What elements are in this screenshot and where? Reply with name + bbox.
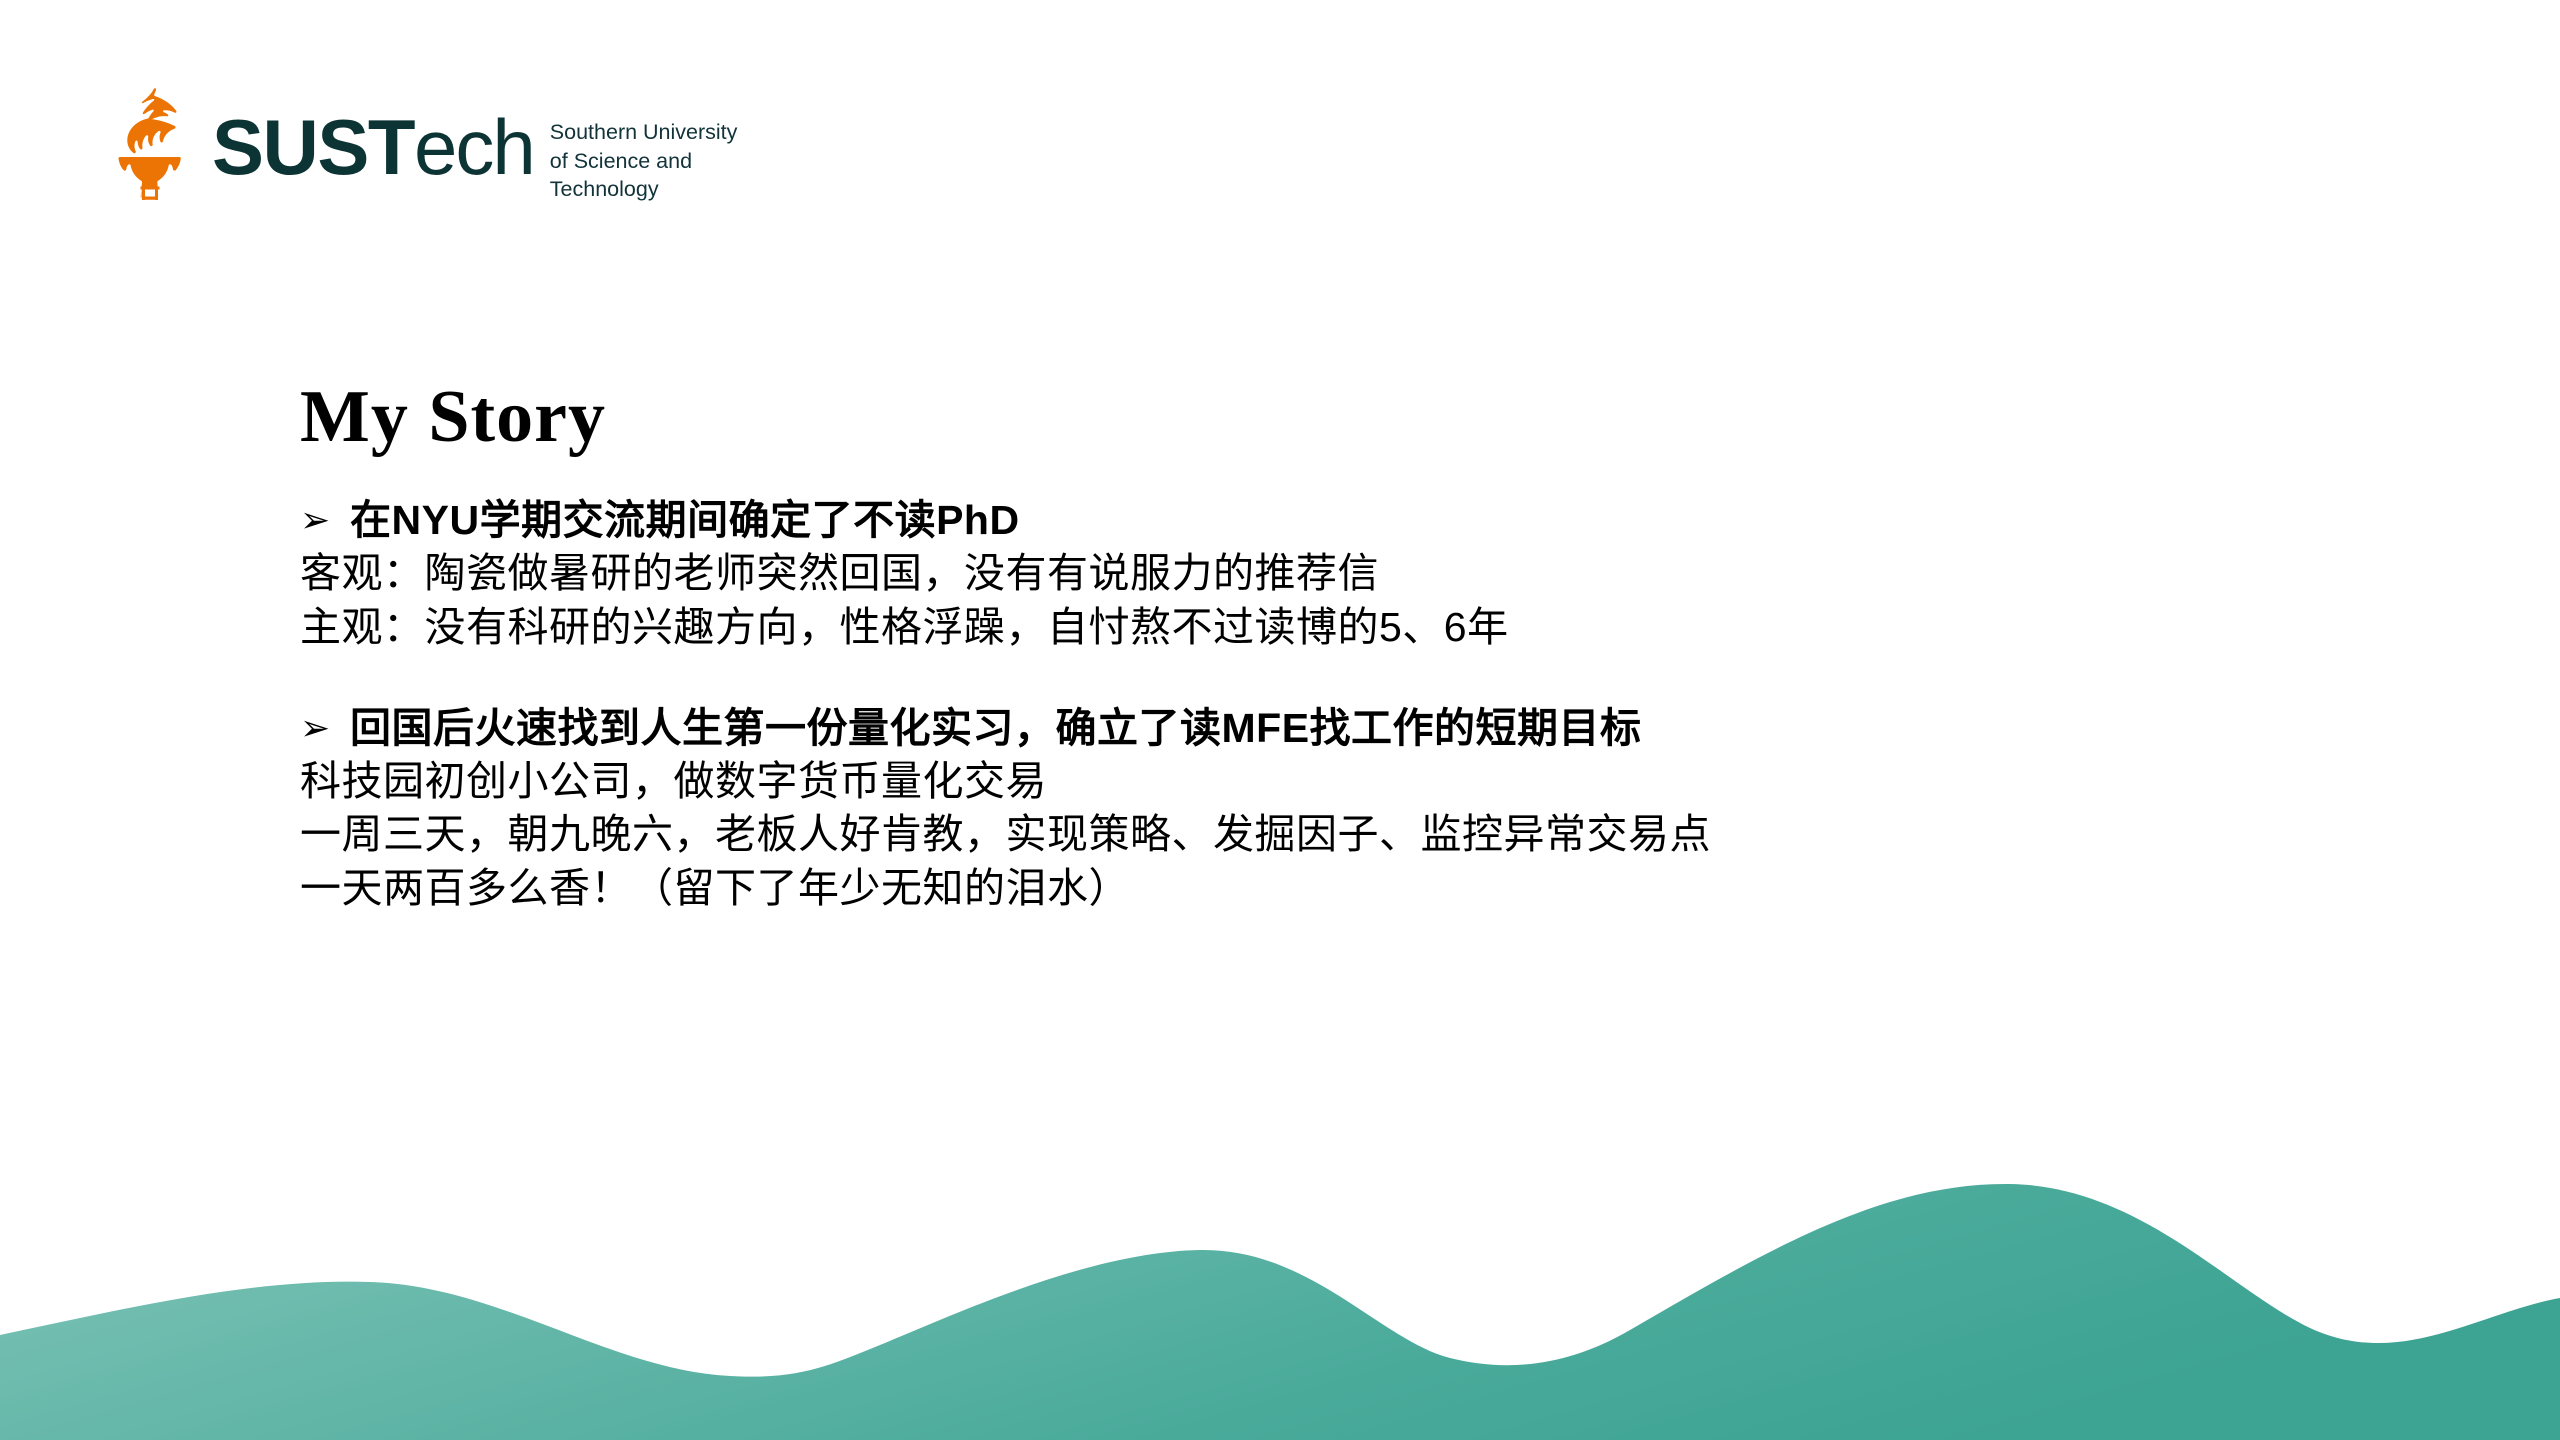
- logo-subtitle: Southern University of Science and Techn…: [550, 118, 738, 204]
- body-line: 客观：陶瓷做暑研的老师突然回国，没有有说服力的推荐信: [300, 547, 2330, 600]
- block-spacer: [300, 654, 2330, 702]
- teal-wave-footer: [0, 1160, 2560, 1440]
- logo-subtitle-line-3: Technology: [550, 175, 738, 204]
- content-block-2: ➢ 回国后火速找到人生第一份量化实习，确立了读MFE找工作的短期目标 科技园初创…: [300, 702, 2330, 915]
- bullet-heading: ➢ 回国后火速找到人生第一份量化实习，确立了读MFE找工作的短期目标: [300, 702, 2330, 755]
- content-block-1: ➢ 在NYU学期交流期间确定了不读PhD 客观：陶瓷做暑研的老师突然回国，没有有…: [300, 494, 2330, 654]
- sustech-logo: SUSTech Southern University of Science a…: [104, 88, 737, 206]
- arrow-bullet-icon: ➢: [300, 494, 350, 546]
- slide-body: ➢ 在NYU学期交流期间确定了不读PhD 客观：陶瓷做暑研的老师突然回国，没有有…: [300, 494, 2330, 915]
- bullet-heading-text: 在NYU学期交流期间确定了不读PhD: [350, 494, 2330, 547]
- bullet-heading-text: 回国后火速找到人生第一份量化实习，确立了读MFE找工作的短期目标: [350, 702, 2330, 755]
- body-line: 主观：没有科研的兴趣方向，性格浮躁，自忖熬不过读博的5、6年: [300, 601, 2330, 654]
- sustech-torch-flame-icon: [104, 88, 196, 200]
- slide-title: My Story: [300, 380, 606, 454]
- logo-wordmark-light: ech: [414, 103, 534, 191]
- logo-wordmark: SUSTech: [212, 108, 534, 186]
- slide-canvas: SUSTech Southern University of Science a…: [0, 0, 2560, 1440]
- bullet-heading: ➢ 在NYU学期交流期间确定了不读PhD: [300, 494, 2330, 547]
- body-line: 一天两百多么香！（留下了年少无知的泪水）: [300, 862, 2330, 915]
- logo-subtitle-line-1: Southern University: [550, 118, 738, 147]
- arrow-bullet-icon: ➢: [300, 702, 350, 754]
- body-line: 科技园初创小公司，做数字货币量化交易: [300, 755, 2330, 808]
- body-line: 一周三天，朝九晚六，老板人好肯教，实现策略、发掘因子、监控异常交易点: [300, 808, 2330, 861]
- logo-wordmark-bold: SUST: [212, 103, 414, 191]
- logo-subtitle-line-2: of Science and: [550, 147, 738, 176]
